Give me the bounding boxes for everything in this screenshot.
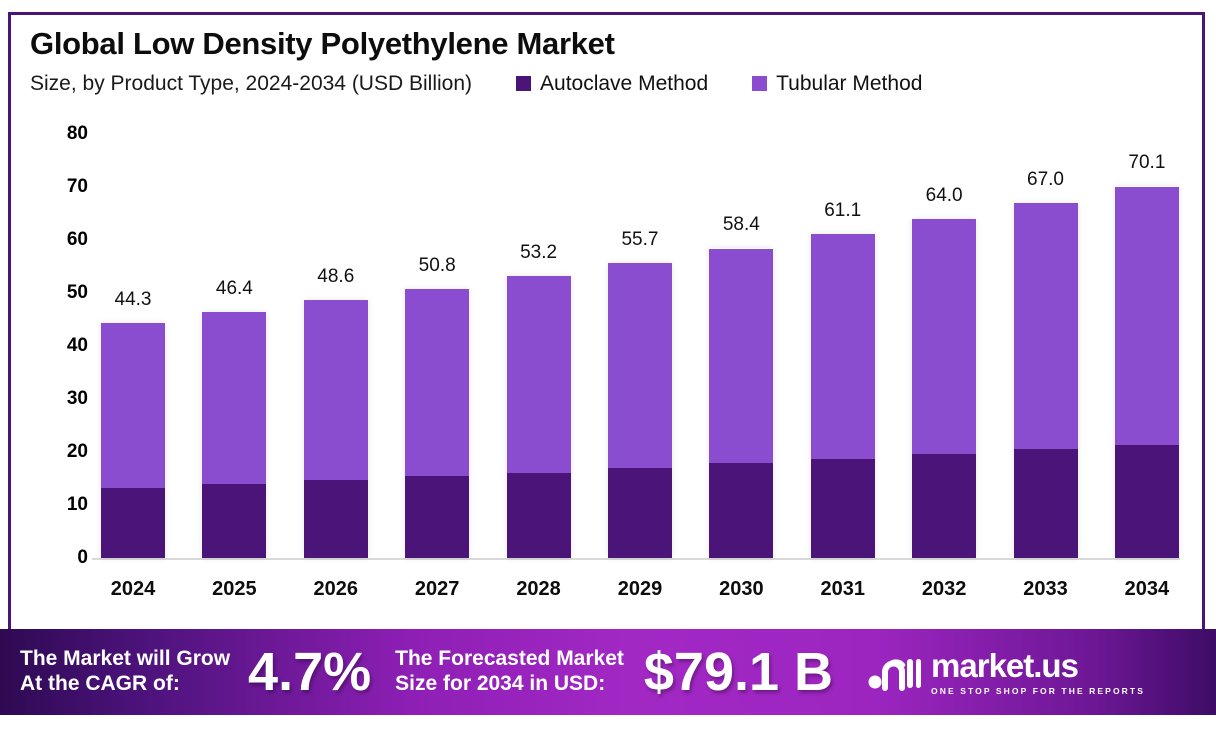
y-tick-70: 70 bbox=[67, 176, 88, 198]
bar-value-label: 46.4 bbox=[216, 278, 253, 300]
bar-segment-autoclave[interactable] bbox=[507, 473, 571, 558]
bar-value-label: 55.7 bbox=[621, 229, 658, 251]
stacked-bar[interactable] bbox=[608, 263, 672, 558]
chart-legend: Autoclave MethodTubular Method bbox=[516, 72, 922, 96]
stacked-bar[interactable] bbox=[1014, 203, 1078, 558]
bar-segment-tubular[interactable] bbox=[811, 234, 875, 459]
bar-value-label: 61.1 bbox=[824, 200, 861, 222]
logo-tagline: ONE STOP SHOP FOR THE REPORTS bbox=[931, 686, 1145, 696]
legend-swatch-icon bbox=[516, 76, 531, 91]
x-tick-2028: 2028 bbox=[506, 578, 572, 608]
bar-segment-tubular[interactable] bbox=[101, 323, 165, 487]
bar-value-label: 50.8 bbox=[419, 255, 456, 277]
bar-segment-autoclave[interactable] bbox=[1014, 449, 1078, 558]
x-tick-2025: 2025 bbox=[201, 578, 267, 608]
page-title: Global Low Density Polyethylene Market bbox=[30, 26, 1180, 62]
x-tick-2034: 2034 bbox=[1114, 578, 1180, 608]
bar-value-label: 53.2 bbox=[520, 242, 557, 264]
y-axis-labels: 80706050403020100 bbox=[30, 134, 88, 564]
bar-value-label: 58.4 bbox=[723, 214, 760, 236]
bar-column[interactable]: 67.0 bbox=[1013, 134, 1079, 558]
bar-segment-tubular[interactable] bbox=[202, 312, 266, 484]
bar-segment-tubular[interactable] bbox=[1014, 203, 1078, 449]
bar-column[interactable]: 46.4 bbox=[201, 134, 267, 558]
bar-column[interactable]: 70.1 bbox=[1114, 134, 1180, 558]
bar-segment-autoclave[interactable] bbox=[405, 476, 469, 558]
subtitle-legend-row: Size, by Product Type, 2024-2034 (USD Bi… bbox=[30, 72, 1180, 96]
chart-header: Global Low Density Polyethylene Market S… bbox=[30, 26, 1180, 96]
x-tick-2027: 2027 bbox=[404, 578, 470, 608]
bar-value-label: 44.3 bbox=[115, 289, 152, 311]
chart-infographic: Global Low Density Polyethylene Market S… bbox=[0, 0, 1216, 739]
bar-column[interactable]: 53.2 bbox=[506, 134, 572, 558]
x-tick-2024: 2024 bbox=[100, 578, 166, 608]
y-tick-50: 50 bbox=[67, 282, 88, 304]
cagr-caption: The Market will Grow At the CAGR of: bbox=[20, 647, 230, 697]
bottom-banner: The Market will Grow At the CAGR of: 4.7… bbox=[0, 629, 1216, 715]
chart-subtitle: Size, by Product Type, 2024-2034 (USD Bi… bbox=[30, 72, 472, 96]
y-tick-30: 30 bbox=[67, 388, 88, 410]
forecast-caption: The Forecasted Market Size for 2034 in U… bbox=[395, 647, 624, 697]
bar-column[interactable]: 58.4 bbox=[708, 134, 774, 558]
x-tick-2030: 2030 bbox=[708, 578, 774, 608]
bar-series-group: 44.346.448.650.853.255.758.461.164.067.0… bbox=[100, 134, 1180, 558]
plot-area: 80706050403020100 44.346.448.650.853.255… bbox=[30, 134, 1180, 564]
stacked-bar[interactable] bbox=[912, 219, 976, 558]
bar-column[interactable]: 44.3 bbox=[100, 134, 166, 558]
forecast-block: The Forecasted Market Size for 2034 in U… bbox=[395, 645, 833, 699]
bar-value-label: 67.0 bbox=[1027, 169, 1064, 191]
stacked-bar[interactable] bbox=[101, 323, 165, 558]
legend-item-1[interactable]: Autoclave Method bbox=[516, 72, 708, 96]
bar-column[interactable]: 48.6 bbox=[303, 134, 369, 558]
stacked-bar[interactable] bbox=[507, 276, 571, 558]
cagr-block: The Market will Grow At the CAGR of: 4.7… bbox=[20, 645, 371, 699]
bar-segment-autoclave[interactable] bbox=[811, 459, 875, 558]
cagr-value: 4.7% bbox=[248, 645, 371, 699]
y-tick-80: 80 bbox=[67, 123, 88, 145]
stacked-bar[interactable] bbox=[1115, 186, 1179, 558]
y-tick-10: 10 bbox=[67, 494, 88, 516]
bar-segment-autoclave[interactable] bbox=[912, 454, 976, 558]
x-tick-2026: 2026 bbox=[303, 578, 369, 608]
x-tick-2031: 2031 bbox=[810, 578, 876, 608]
bar-column[interactable]: 64.0 bbox=[911, 134, 977, 558]
bar-value-label: 48.6 bbox=[317, 266, 354, 288]
logo-name: market.us bbox=[931, 649, 1145, 682]
bar-segment-autoclave[interactable] bbox=[304, 480, 368, 558]
bar-column[interactable]: 50.8 bbox=[404, 134, 470, 558]
bar-value-label: 70.1 bbox=[1128, 152, 1165, 174]
x-tick-2032: 2032 bbox=[911, 578, 977, 608]
stacked-bar[interactable] bbox=[811, 234, 875, 558]
x-axis-labels: 2024202520262027202820292030203120322033… bbox=[100, 578, 1180, 608]
bar-segment-tubular[interactable] bbox=[304, 300, 368, 480]
stacked-bar[interactable] bbox=[709, 248, 773, 558]
bar-segment-tubular[interactable] bbox=[405, 289, 469, 476]
bar-value-label: 64.0 bbox=[926, 185, 963, 207]
y-tick-20: 20 bbox=[67, 441, 88, 463]
bar-segment-tubular[interactable] bbox=[507, 276, 571, 473]
y-tick-40: 40 bbox=[67, 335, 88, 357]
bar-segment-tubular[interactable] bbox=[608, 263, 672, 469]
legend-label: Autoclave Method bbox=[540, 72, 708, 96]
bar-segment-tubular[interactable] bbox=[1115, 187, 1179, 446]
bar-segment-tubular[interactable] bbox=[709, 249, 773, 464]
bar-column[interactable]: 55.7 bbox=[607, 134, 673, 558]
bar-segment-autoclave[interactable] bbox=[608, 468, 672, 558]
legend-item-2[interactable]: Tubular Method bbox=[752, 72, 922, 96]
bar-segment-autoclave[interactable] bbox=[709, 463, 773, 558]
bar-segment-autoclave[interactable] bbox=[101, 488, 165, 558]
cagr-caption-line2: At the CAGR of: bbox=[20, 672, 230, 697]
bar-segment-autoclave[interactable] bbox=[202, 484, 266, 558]
x-tick-2029: 2029 bbox=[607, 578, 673, 608]
market-us-mark-icon bbox=[867, 653, 921, 691]
stacked-bar[interactable] bbox=[202, 312, 266, 558]
bar-segment-autoclave[interactable] bbox=[1115, 445, 1179, 558]
y-tick-60: 60 bbox=[67, 229, 88, 251]
x-axis-line bbox=[92, 558, 1180, 560]
forecast-caption-line1: The Forecasted Market bbox=[395, 647, 624, 672]
bar-segment-tubular[interactable] bbox=[912, 219, 976, 454]
stacked-bar[interactable] bbox=[405, 289, 469, 558]
y-tick-0: 0 bbox=[77, 547, 88, 569]
forecast-value: $79.1 B bbox=[644, 645, 833, 699]
stacked-bar[interactable] bbox=[304, 300, 368, 558]
x-tick-2033: 2033 bbox=[1013, 578, 1079, 608]
legend-swatch-icon bbox=[752, 76, 767, 91]
legend-label: Tubular Method bbox=[776, 72, 922, 96]
forecast-caption-line2: Size for 2034 in USD: bbox=[395, 672, 624, 697]
market-us-wordmark: market.us ONE STOP SHOP FOR THE REPORTS bbox=[931, 649, 1145, 696]
cagr-caption-line1: The Market will Grow bbox=[20, 647, 230, 672]
bar-column[interactable]: 61.1 bbox=[810, 134, 876, 558]
market-us-logo[interactable]: market.us ONE STOP SHOP FOR THE REPORTS bbox=[867, 649, 1145, 696]
